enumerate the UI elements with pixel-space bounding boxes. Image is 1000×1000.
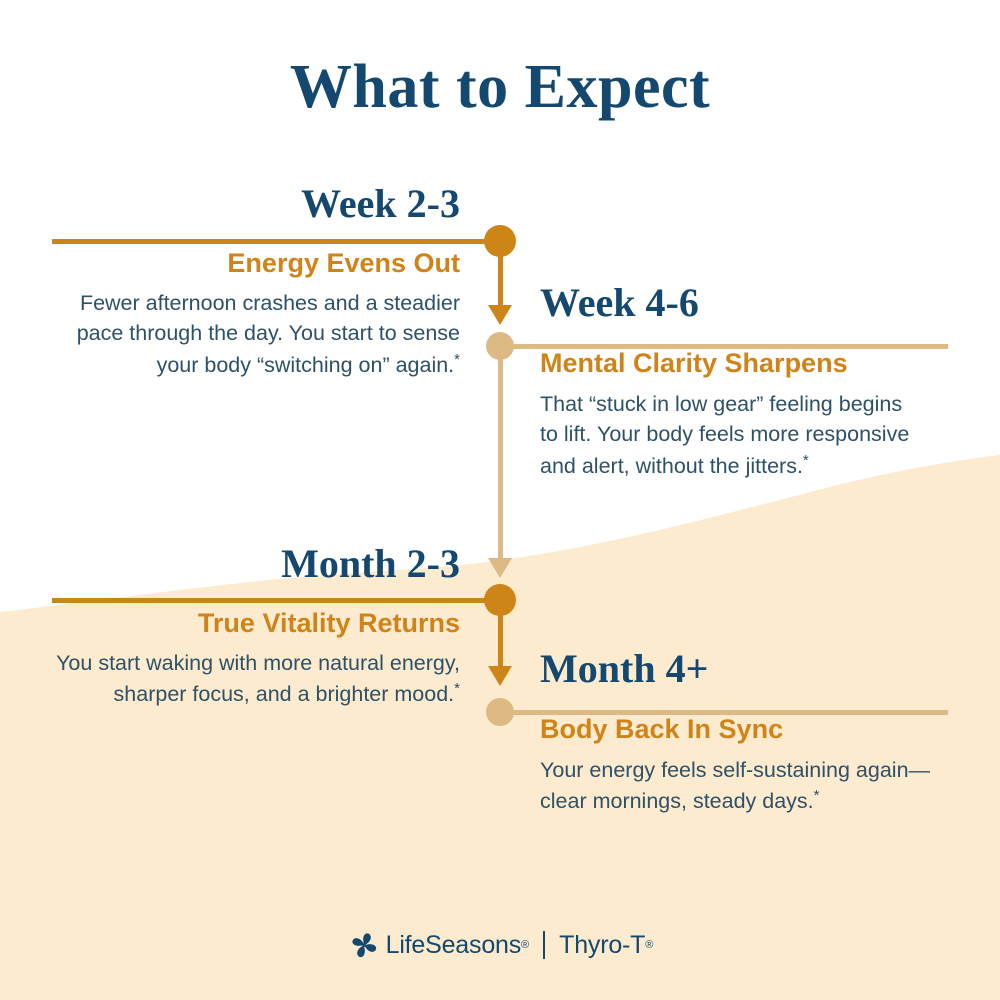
brand-registered-mark: ®	[521, 939, 529, 951]
stage-body-text-4: Your energy feels self-sustaining again—…	[540, 758, 930, 814]
timeline-entry-month-4-plus: Month 4+ Body Back In Sync Your energy f…	[540, 648, 960, 817]
stage-heading-3: True Vitality Returns	[40, 609, 460, 639]
infographic-canvas: What to Expect Week 2-3 Energy Evens Out…	[0, 0, 1000, 1000]
stage-body-1: Fewer afternoon crashes and a steadier p…	[40, 288, 460, 381]
timeline-drop-3	[498, 600, 503, 670]
stage-heading-1: Energy Evens Out	[40, 249, 460, 279]
timeline-entry-week-4-6: Week 4-6 Mental Clarity Sharpens That “s…	[540, 282, 960, 481]
stage-body-text-2: That “stuck in low gear” feeling begins …	[540, 392, 909, 478]
timeline-dot-4	[486, 698, 514, 726]
timeline-connectors	[0, 0, 1000, 1000]
cream-wave-background	[0, 0, 1000, 1000]
timeline-entry-month-2-3: Month 2-3 True Vitality Returns You star…	[40, 543, 460, 710]
footnote-marker-1: *	[454, 351, 460, 368]
stage-label-4: Month 4+	[540, 648, 960, 690]
timeline-entry-week-2-3: Week 2-3 Energy Evens Out Fewer afternoo…	[40, 183, 460, 380]
timeline-arrow-2	[488, 558, 512, 578]
footnote-marker-2: *	[803, 452, 809, 469]
timeline-arrow-1	[488, 305, 512, 325]
footer-divider	[543, 931, 545, 959]
product-name: Thyro-T	[559, 931, 645, 960]
stage-label-1: Week 2-3	[40, 183, 460, 225]
stage-body-text-1: Fewer afternoon crashes and a steadier p…	[77, 291, 460, 377]
stage-heading-4: Body Back In Sync	[540, 715, 960, 745]
footnote-marker-3: *	[454, 680, 460, 697]
timeline-arrow-3	[488, 666, 512, 686]
footnote-marker-4: *	[814, 787, 820, 804]
stage-body-4: Your energy feels self-sustaining again—…	[540, 755, 940, 817]
timeline-dot-1	[484, 225, 516, 257]
timeline-drop-2	[498, 346, 503, 562]
stage-body-text-3: You start waking with more natural energ…	[56, 651, 460, 707]
lifeseasons-pinwheel-icon	[347, 928, 381, 962]
timeline-dot-3	[484, 584, 516, 616]
timeline-drop-1	[498, 241, 503, 309]
stage-label-3: Month 2-3	[40, 543, 460, 585]
brand-name: LifeSeasons	[386, 931, 521, 960]
stage-body-2: That “stuck in low gear” feeling begins …	[540, 389, 925, 482]
stage-label-2: Week 4-6	[540, 282, 960, 324]
product-registered-mark: ®	[645, 939, 653, 951]
stage-heading-2: Mental Clarity Sharpens	[540, 349, 960, 379]
footer-branding: LifeSeasons® Thyro-T®	[0, 928, 1000, 962]
page-title: What to Expect	[0, 52, 1000, 123]
stage-body-3: You start waking with more natural energ…	[40, 648, 460, 710]
timeline-dot-2	[486, 332, 514, 360]
